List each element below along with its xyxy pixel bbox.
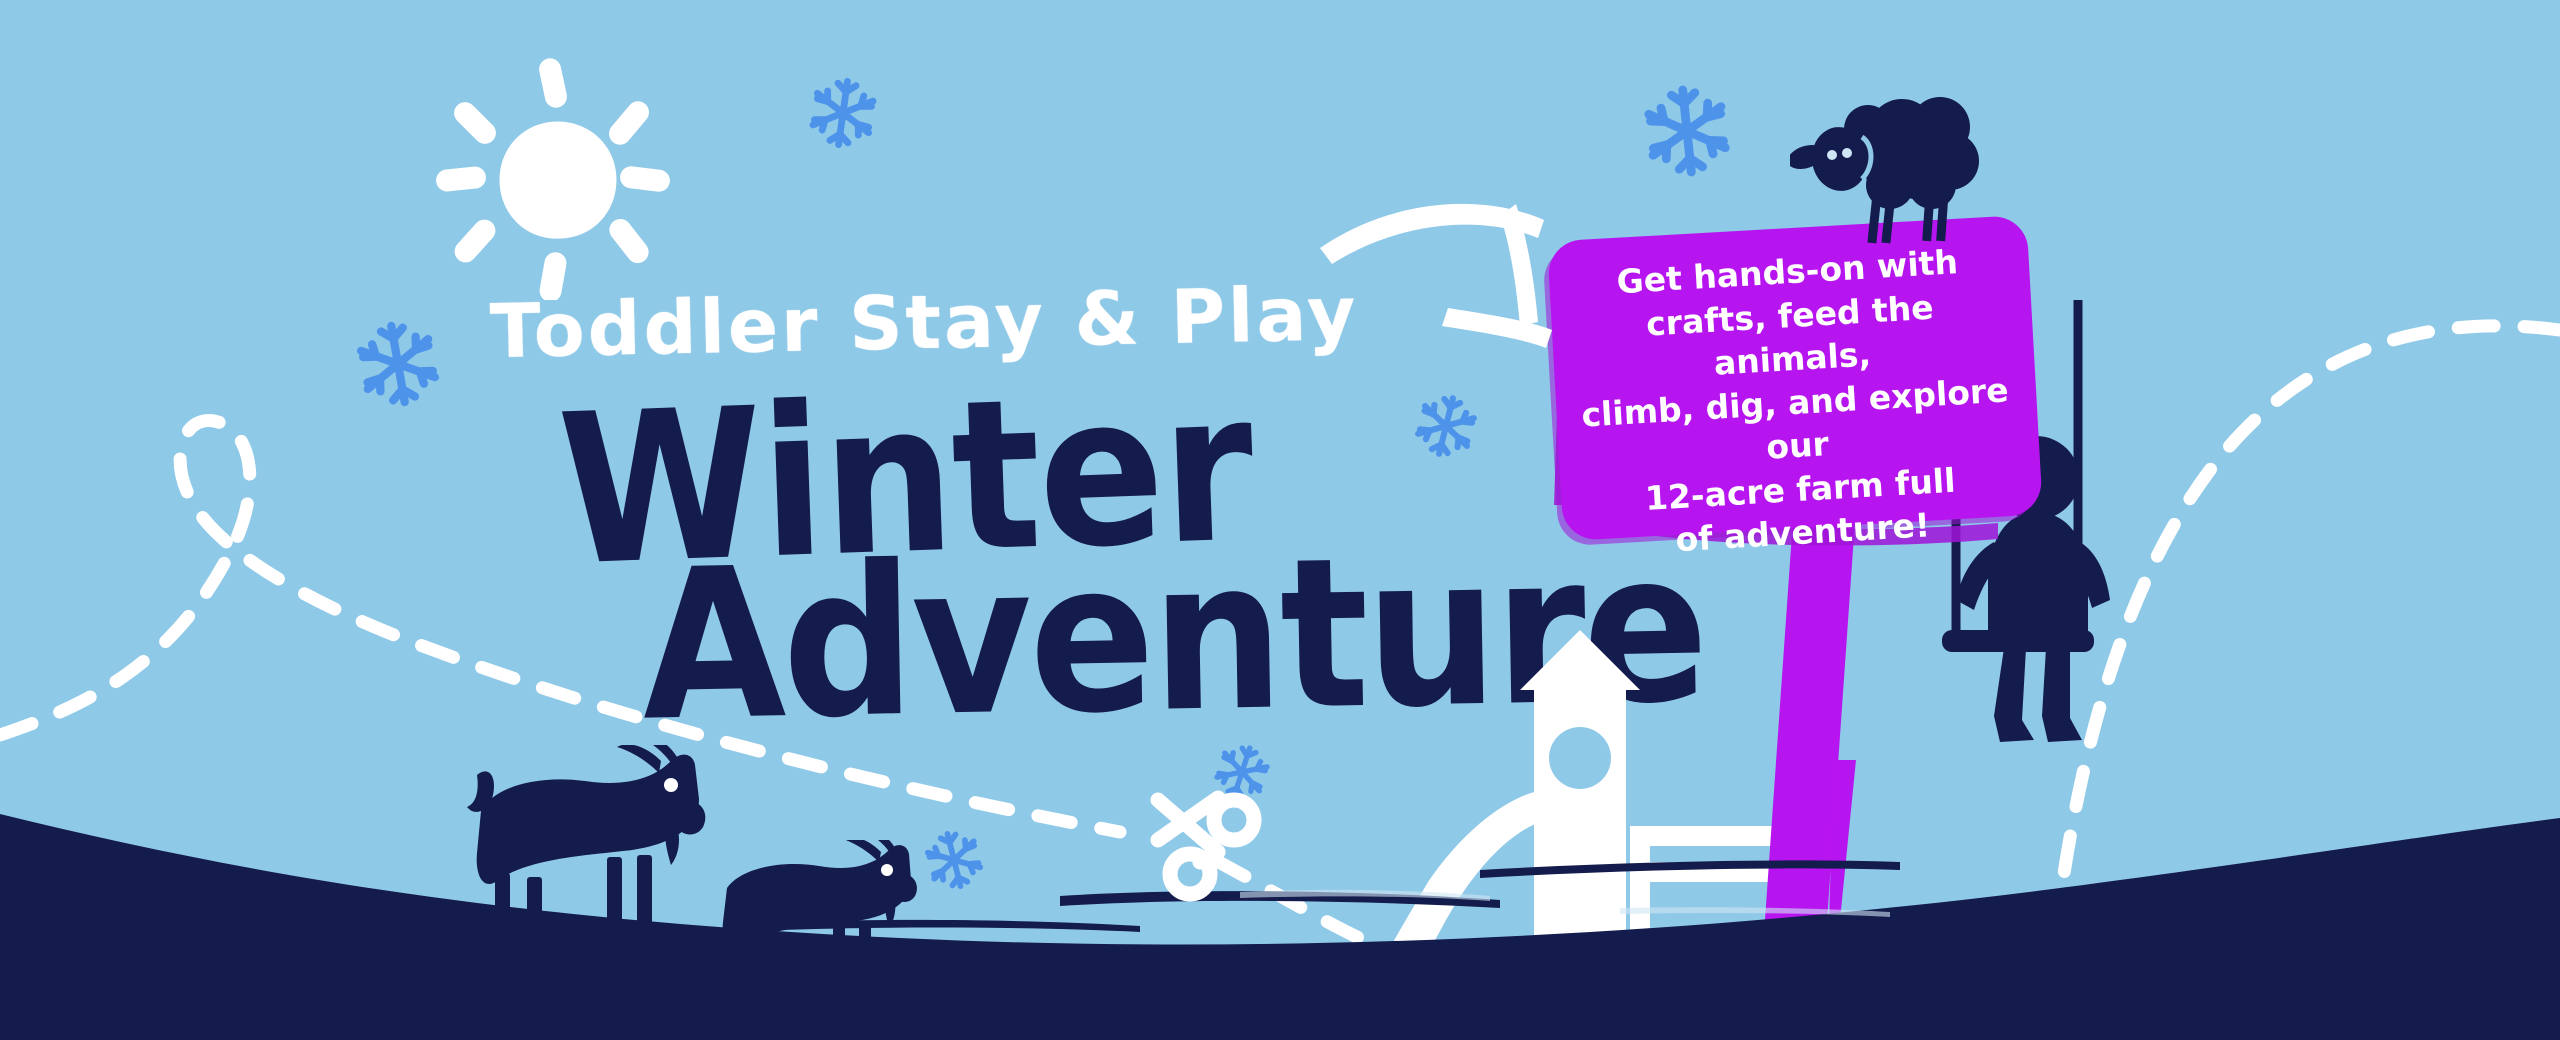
snowflake-icon: [358, 320, 438, 408]
sheep-icon: [1790, 85, 2020, 245]
snowflake-icon: [1415, 392, 1478, 460]
snowflake-icon: [811, 77, 876, 148]
winter-adventure-banner: Toddler Stay & Play Winter Adventure: [0, 0, 2560, 1040]
scissors-icon: [1140, 778, 1270, 908]
goat-icon: [715, 840, 965, 1010]
curved-arrow-icon: [1320, 190, 1680, 380]
ground-hill: [0, 770, 2560, 1040]
snowflake-icon: [1647, 86, 1728, 175]
